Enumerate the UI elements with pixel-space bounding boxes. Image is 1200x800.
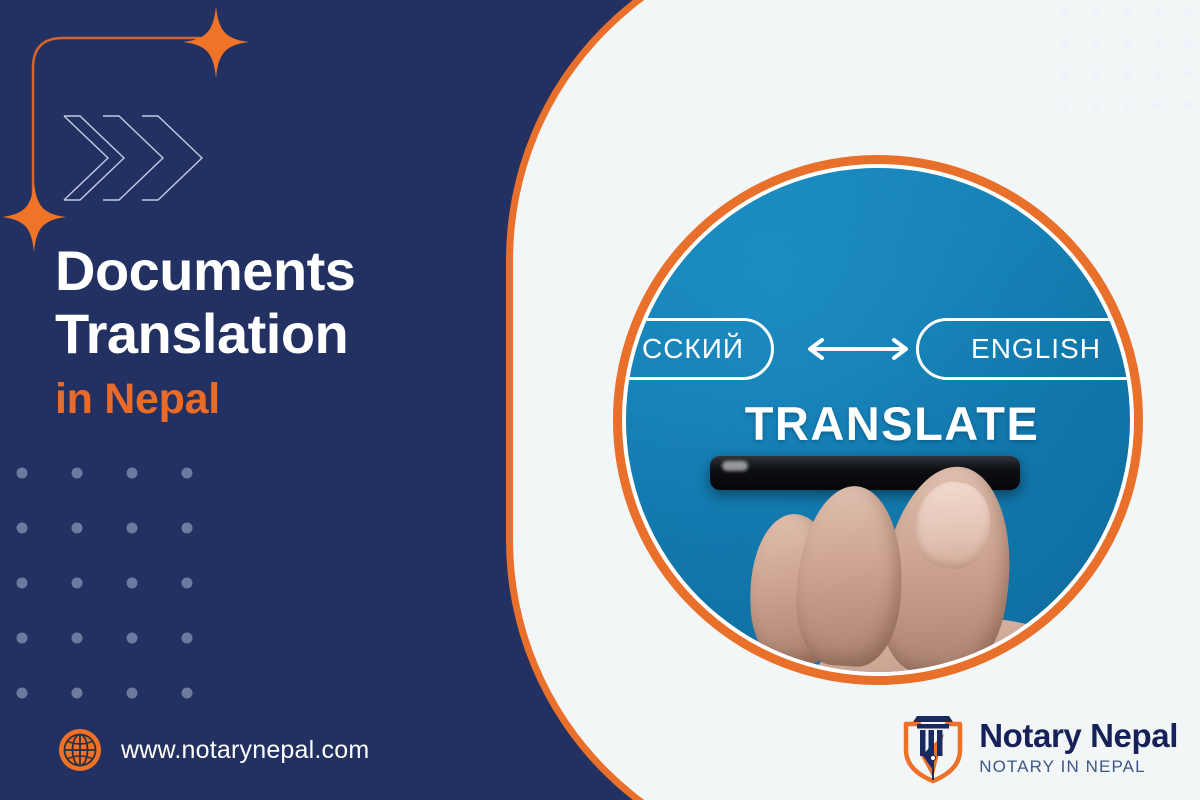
dot-grid-left <box>0 455 250 705</box>
website-url[interactable]: www.notarynepal.com <box>121 736 369 765</box>
shield-pillar-pen-logo-icon <box>900 710 966 784</box>
translate-photo-circle: ССКИЙ ENGLISH TRANSLATE <box>613 155 1143 685</box>
double-arrow-icon <box>806 336 910 362</box>
headline-subline: in Nepal <box>55 375 485 424</box>
triple-chevron-right-icon <box>58 112 218 204</box>
target-language-pill: ENGLISH <box>916 318 1130 380</box>
globe-icon <box>58 728 102 772</box>
sparkle-top-icon <box>183 6 249 78</box>
translate-caption: TRANSLATE <box>722 396 1062 451</box>
brand-logo[interactable]: Notary Nepal NOTARY IN NEPAL <box>900 710 1178 784</box>
headline-line-2: Translation <box>55 302 348 365</box>
promo-banner: ССКИЙ ENGLISH TRANSLATE Doc <box>0 0 1200 800</box>
headline-block: Documents Translation in Nepal <box>55 240 485 424</box>
brand-tagline: NOTARY IN NEPAL <box>979 758 1178 775</box>
source-language-pill: ССКИЙ <box>626 318 774 380</box>
headline-line-1: Documents <box>55 239 355 302</box>
source-language-label: ССКИЙ <box>642 333 744 365</box>
dot-grid-right <box>1050 0 1200 130</box>
page-title: Documents Translation <box>55 240 485 365</box>
brand-text-block: Notary Nepal NOTARY IN NEPAL <box>979 719 1178 775</box>
website-row[interactable]: www.notarynepal.com <box>58 728 369 772</box>
target-language-label: ENGLISH <box>971 333 1101 365</box>
hand-holding-phone <box>756 468 1130 672</box>
translate-photo: ССКИЙ ENGLISH TRANSLATE <box>626 168 1130 672</box>
brand-name: Notary Nepal <box>979 719 1178 752</box>
